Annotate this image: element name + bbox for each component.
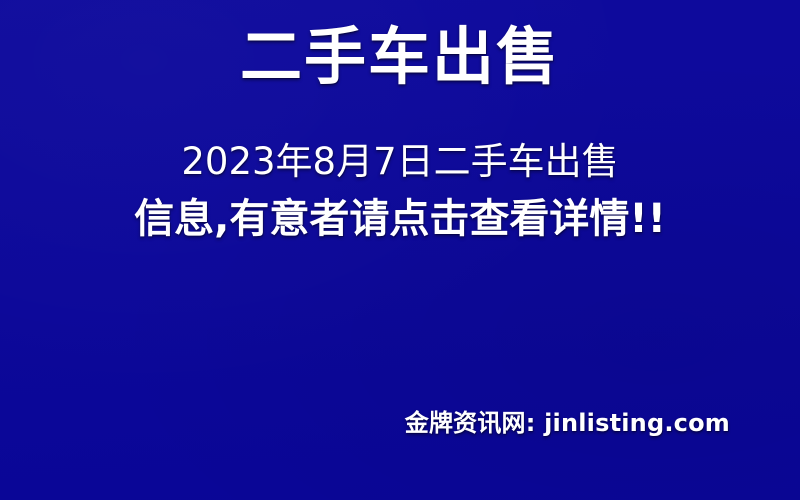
used-car-sale-poster: 二手车出售 2023年8月7日二手车出售 信息,有意者请点击查看详情!! 金牌资… bbox=[0, 0, 800, 500]
body-line-date: 2023年8月7日二手车出售 bbox=[0, 138, 800, 185]
page-title: 二手车出售 bbox=[0, 22, 800, 91]
body-line-call-to-action: 信息,有意者请点击查看详情!! bbox=[0, 193, 800, 246]
site-credit: 金牌资讯网: jinlisting.com bbox=[405, 403, 730, 438]
poster-content-layer: 二手车出售 2023年8月7日二手车出售 信息,有意者请点击查看详情!! 金牌资… bbox=[0, 0, 800, 500]
poster-body: 2023年8月7日二手车出售 信息,有意者请点击查看详情!! bbox=[0, 138, 800, 246]
